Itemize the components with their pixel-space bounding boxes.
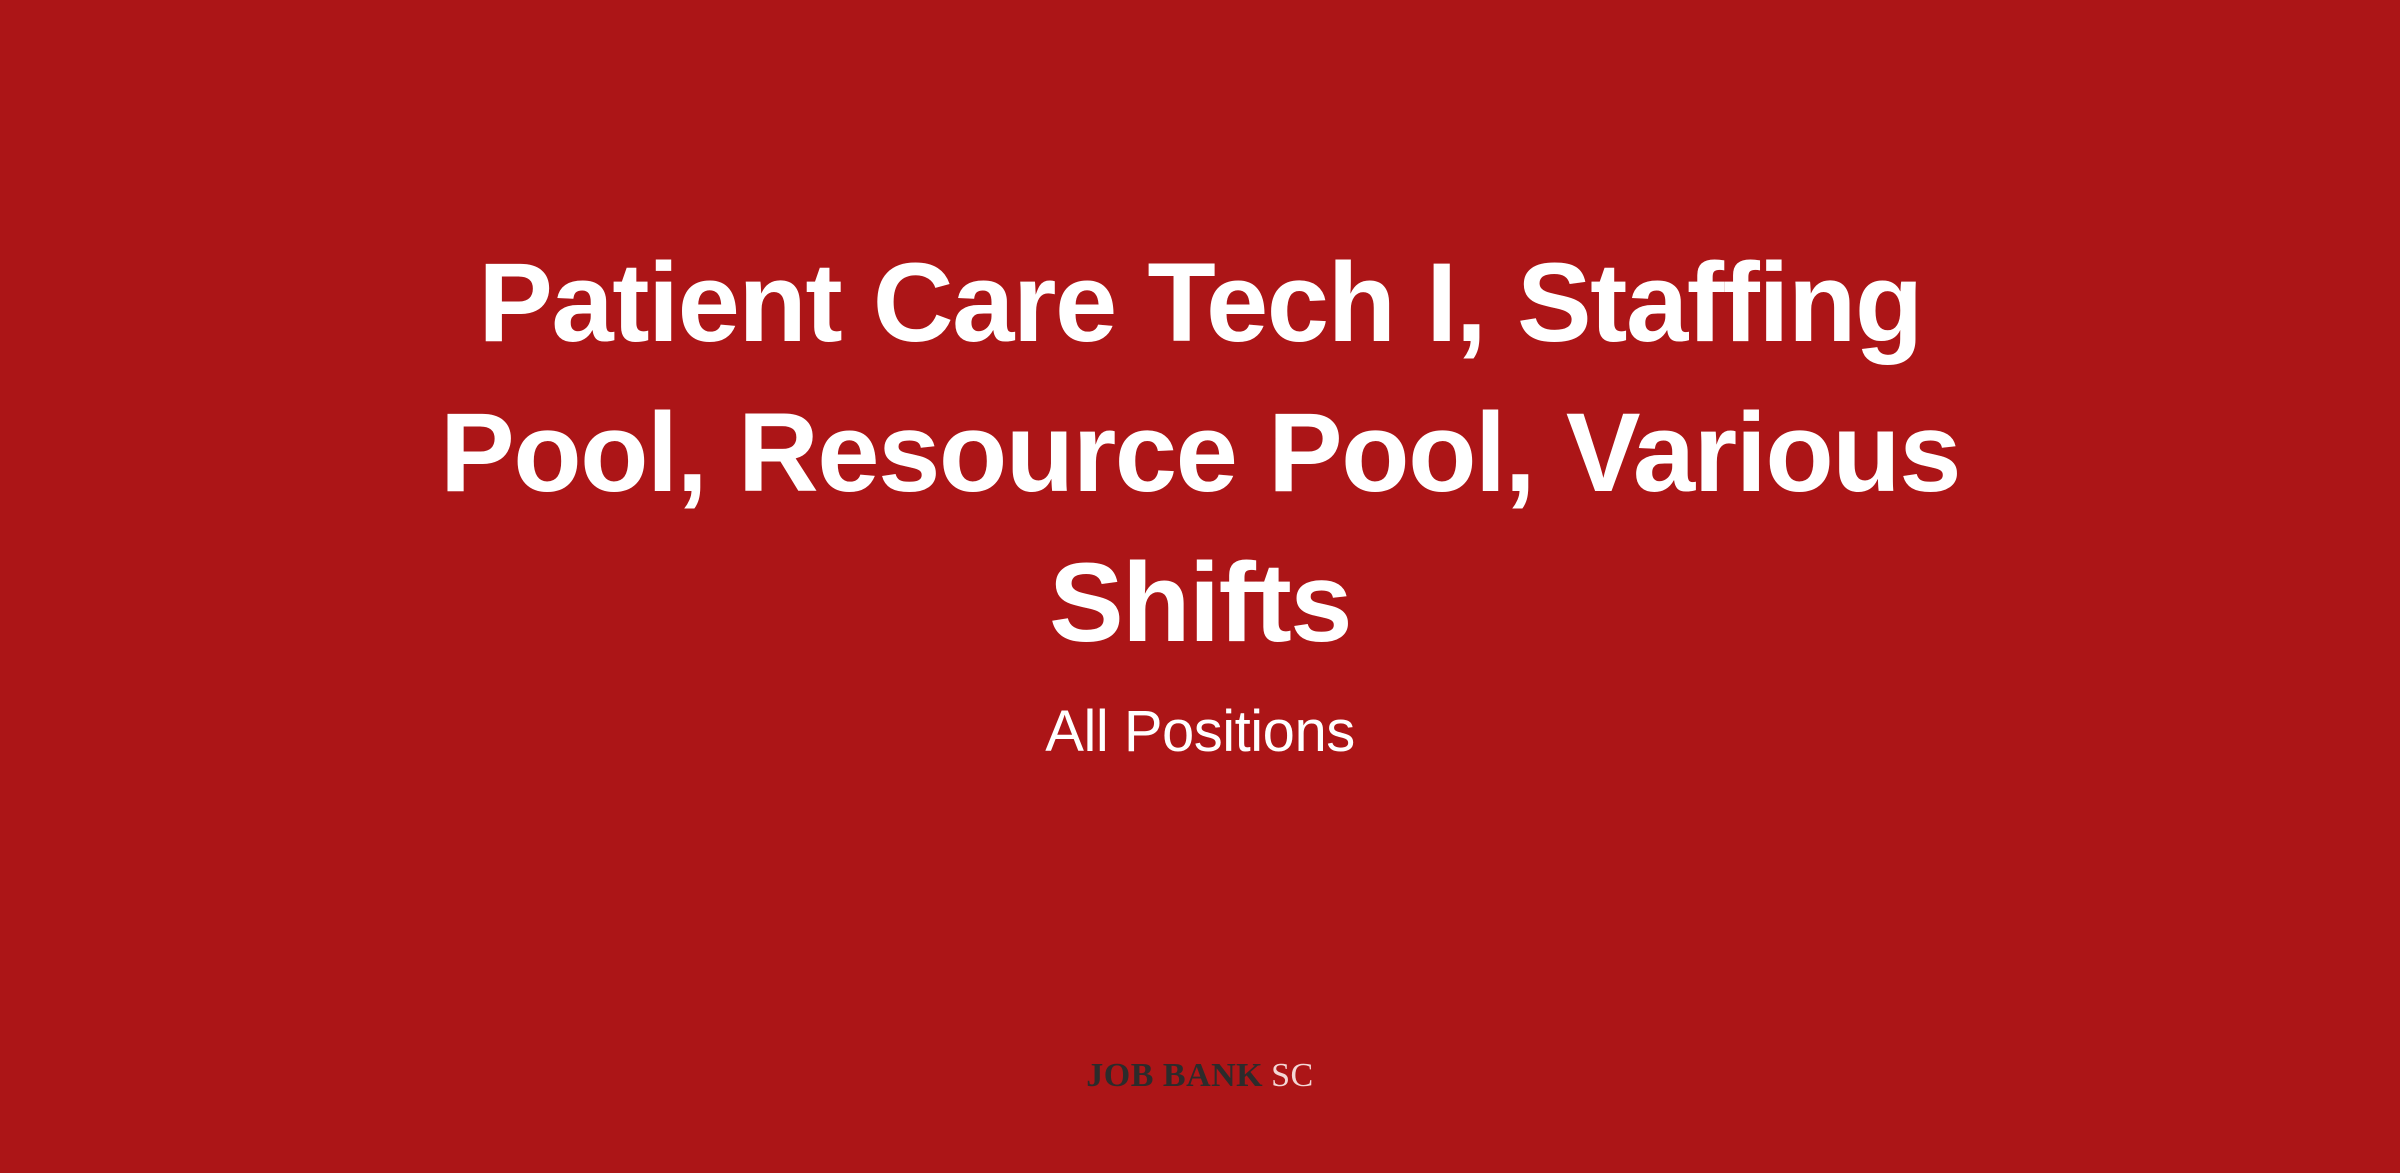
brand-name-primary: JOB BANK [1086,1057,1263,1094]
brand-name-secondary: SC [1271,1057,1314,1094]
hero-section: Patient Care Tech I, Staffing Pool, Reso… [0,0,2400,768]
page-title: Patient Care Tech I, Staffing Pool, Reso… [0,228,2400,678]
page-subtitle: All Positions [0,678,2400,768]
brand-logo[interactable]: JOB BANKSC [0,1059,2400,1093]
job-posting-card: Patient Care Tech I, Staffing Pool, Reso… [0,0,2400,1173]
